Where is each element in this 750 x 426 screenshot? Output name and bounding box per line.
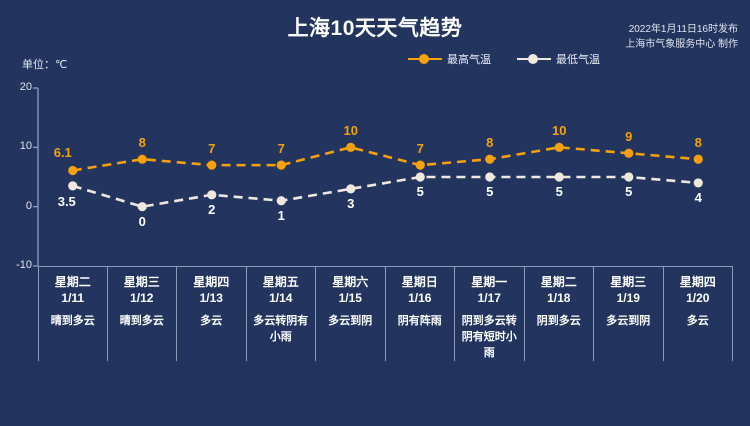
forecast-day-column[interactable]: 星期四1/13多云: [177, 267, 247, 361]
day-date: 1/15: [319, 290, 382, 307]
high-temp-point: [416, 161, 425, 170]
day-condition: 阴到多云: [528, 313, 591, 329]
low-temp-point: [138, 202, 147, 211]
low-temp-line: [73, 177, 699, 207]
low-temp-label: 1: [278, 208, 285, 223]
axis-unit-label: 单位：℃: [22, 56, 67, 72]
forecast-day-column[interactable]: 星期四1/20多云: [664, 267, 734, 361]
day-date: 1/17: [458, 290, 521, 307]
low-temp-point: [346, 184, 355, 193]
high-temp-point: [694, 155, 703, 164]
day-condition: 晴到多云: [42, 313, 104, 329]
day-condition: 多云: [667, 313, 730, 329]
forecast-day-column[interactable]: 星期日1/16阴有阵雨: [386, 267, 456, 361]
day-date: 1/19: [597, 290, 660, 307]
day-condition: 晴到多云: [111, 313, 174, 329]
low-temp-label: 3.5: [58, 194, 76, 209]
day-weekday: 星期二: [42, 274, 104, 290]
low-temp-label: 5: [556, 184, 563, 199]
low-temp-point: [555, 172, 564, 181]
forecast-day-column[interactable]: 星期一1/17阴到多云转阴有短时小雨: [455, 267, 525, 361]
day-weekday: 星期三: [111, 274, 174, 290]
high-temp-point: [624, 149, 633, 158]
high-temp-label: 9: [625, 129, 632, 144]
high-temp-label: 7: [278, 141, 285, 156]
high-temp-point: [277, 161, 286, 170]
low-temp-point: [416, 172, 425, 181]
legend-marker-low-icon: [517, 53, 551, 65]
day-condition: 多云到阴: [597, 313, 660, 329]
day-weekday: 星期五: [250, 274, 313, 290]
y-axis-tick: -10: [2, 259, 32, 271]
high-temp-point: [346, 143, 355, 152]
forecast-day-column[interactable]: 星期二1/11晴到多云: [38, 267, 108, 361]
day-weekday: 星期二: [528, 274, 591, 290]
forecast-table: 星期二1/11晴到多云星期三1/12晴到多云星期四1/13多云星期五1/14多云…: [38, 266, 733, 361]
day-weekday: 星期六: [319, 274, 382, 290]
high-temp-label: 8: [695, 135, 702, 150]
y-axis-tick: 10: [2, 140, 32, 152]
high-temp-label: 8: [486, 135, 493, 150]
day-date: 1/16: [389, 290, 452, 307]
forecast-day-column[interactable]: 星期六1/15多云到阴: [316, 267, 386, 361]
high-temp-label: 8: [139, 135, 146, 150]
high-temp-label: 10: [344, 123, 358, 138]
forecast-day-column[interactable]: 星期二1/18阴到多云: [525, 267, 595, 361]
high-temp-point: [68, 166, 77, 175]
low-temp-point: [694, 178, 703, 187]
legend-item-high: 最高气温: [408, 51, 491, 67]
high-temp-point: [207, 161, 216, 170]
day-date: 1/18: [528, 290, 591, 307]
day-weekday: 星期四: [180, 274, 243, 290]
low-temp-point: [68, 181, 77, 190]
day-condition: 阴有阵雨: [389, 313, 452, 329]
high-temp-line: [73, 147, 699, 170]
legend-label-high: 最高气温: [447, 51, 491, 67]
day-weekday: 星期三: [597, 274, 660, 290]
chart-legend: 最高气温 最低气温: [408, 51, 600, 67]
day-condition: 多云: [180, 313, 243, 329]
low-temp-label: 3: [347, 196, 354, 211]
day-weekday: 星期日: [389, 274, 452, 290]
day-condition: 阴到多云转阴有短时小雨: [458, 313, 521, 361]
low-temp-label: 5: [417, 184, 424, 199]
y-axis-tick: 0: [2, 200, 32, 212]
day-date: 1/11: [42, 290, 104, 307]
low-temp-label: 5: [486, 184, 493, 199]
high-temp-label: 7: [208, 141, 215, 156]
weather-trend-chart: 上海10天天气趋势 2022年1月11日16时发布 上海市气象服务中心 制作 最…: [0, 0, 750, 426]
issue-time: 2022年1月11日16时发布: [625, 22, 738, 37]
legend-item-low: 最低气温: [517, 51, 600, 67]
day-date: 1/20: [667, 290, 730, 307]
day-condition: 多云转阴有小雨: [250, 313, 313, 345]
plot-area: [0, 0, 750, 426]
low-temp-label: 2: [208, 202, 215, 217]
low-temp-label: 0: [139, 214, 146, 229]
day-weekday: 星期一: [458, 274, 521, 290]
forecast-day-column[interactable]: 星期三1/19多云到阴: [594, 267, 664, 361]
issue-info: 2022年1月11日16时发布 上海市气象服务中心 制作: [625, 22, 738, 52]
low-temp-label: 4: [695, 190, 702, 205]
low-temp-point: [485, 172, 494, 181]
legend-marker-high-icon: [408, 53, 442, 65]
legend-label-low: 最低气温: [556, 51, 600, 67]
high-temp-label: 7: [417, 141, 424, 156]
high-temp-label: 10: [552, 123, 566, 138]
forecast-day-column[interactable]: 星期五1/14多云转阴有小雨: [247, 267, 317, 361]
low-temp-point: [277, 196, 286, 205]
high-temp-point: [485, 155, 494, 164]
low-temp-point: [624, 172, 633, 181]
high-temp-point: [138, 155, 147, 164]
day-date: 1/14: [250, 290, 313, 307]
y-axis-tick: 20: [2, 81, 32, 93]
day-condition: 多云到阴: [319, 313, 382, 329]
low-temp-point: [207, 190, 216, 199]
day-date: 1/12: [111, 290, 174, 307]
producer: 上海市气象服务中心 制作: [625, 37, 738, 52]
day-date: 1/13: [180, 290, 243, 307]
forecast-day-column[interactable]: 星期三1/12晴到多云: [108, 267, 178, 361]
high-temp-point: [555, 143, 564, 152]
day-weekday: 星期四: [667, 274, 730, 290]
low-temp-label: 5: [625, 184, 632, 199]
high-temp-label: 6.1: [54, 145, 72, 160]
